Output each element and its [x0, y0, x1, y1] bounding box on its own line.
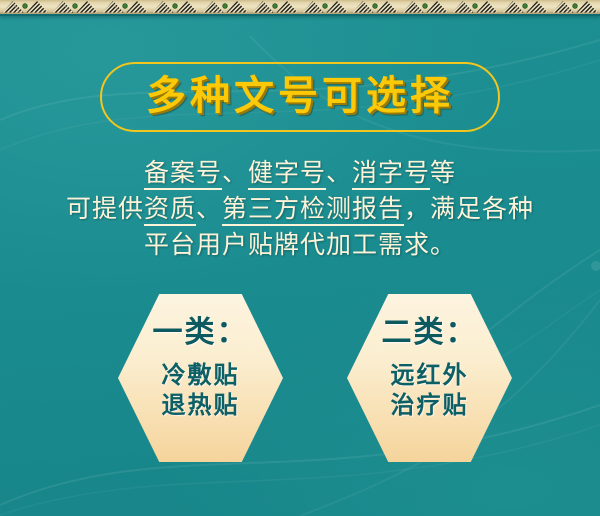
category-1-item-1: 冷敷贴	[162, 361, 240, 391]
category-hexagon-2: 二类： 远红外 治疗贴	[347, 294, 512, 462]
page-title: 多种文号可选择	[102, 76, 498, 116]
highlighted-term: 资质	[144, 196, 196, 226]
highlighted-term: 备案号	[144, 160, 222, 190]
plain-text: 、	[222, 160, 248, 187]
description-paragraph: 备案号、健字号、消字号等可提供资质、第三方检测报告，满足各种平台用户贴牌代加工需…	[30, 156, 570, 264]
category-1-title: 一类：	[153, 316, 249, 349]
category-2-item-2: 治疗贴	[391, 391, 469, 421]
description-line: 平台用户贴牌代加工需求。	[30, 228, 570, 264]
category-2-title: 二类：	[382, 316, 478, 349]
border-pattern-icon	[0, 0, 600, 14]
highlighted-term: 健字号	[248, 160, 326, 190]
highlighted-term: 消字号	[352, 160, 430, 190]
highlighted-term: 第三方检测报告	[222, 196, 404, 226]
category-2-item-1: 远红外	[391, 361, 469, 391]
plain-text: ，满足各种	[404, 196, 534, 223]
plain-text: 可提供	[66, 196, 144, 223]
category-hexagon-1: 一类： 冷敷贴 退热贴	[118, 294, 283, 462]
promo-poster: 多种文号可选择 备案号、健字号、消字号等可提供资质、第三方检测报告，满足各种平台…	[0, 0, 600, 516]
top-decorative-border	[0, 0, 600, 16]
description-line: 备案号、健字号、消字号等	[30, 156, 570, 192]
plain-text: 、	[196, 196, 222, 223]
plain-text: 、	[326, 160, 352, 187]
description-line: 可提供资质、第三方检测报告，满足各种	[30, 192, 570, 228]
category-1-item-2: 退热贴	[162, 391, 240, 421]
plain-text: 平台用户贴牌代加工需求。	[144, 232, 456, 259]
plain-text: 等	[430, 160, 456, 187]
title-frame: 多种文号可选择	[100, 62, 500, 132]
